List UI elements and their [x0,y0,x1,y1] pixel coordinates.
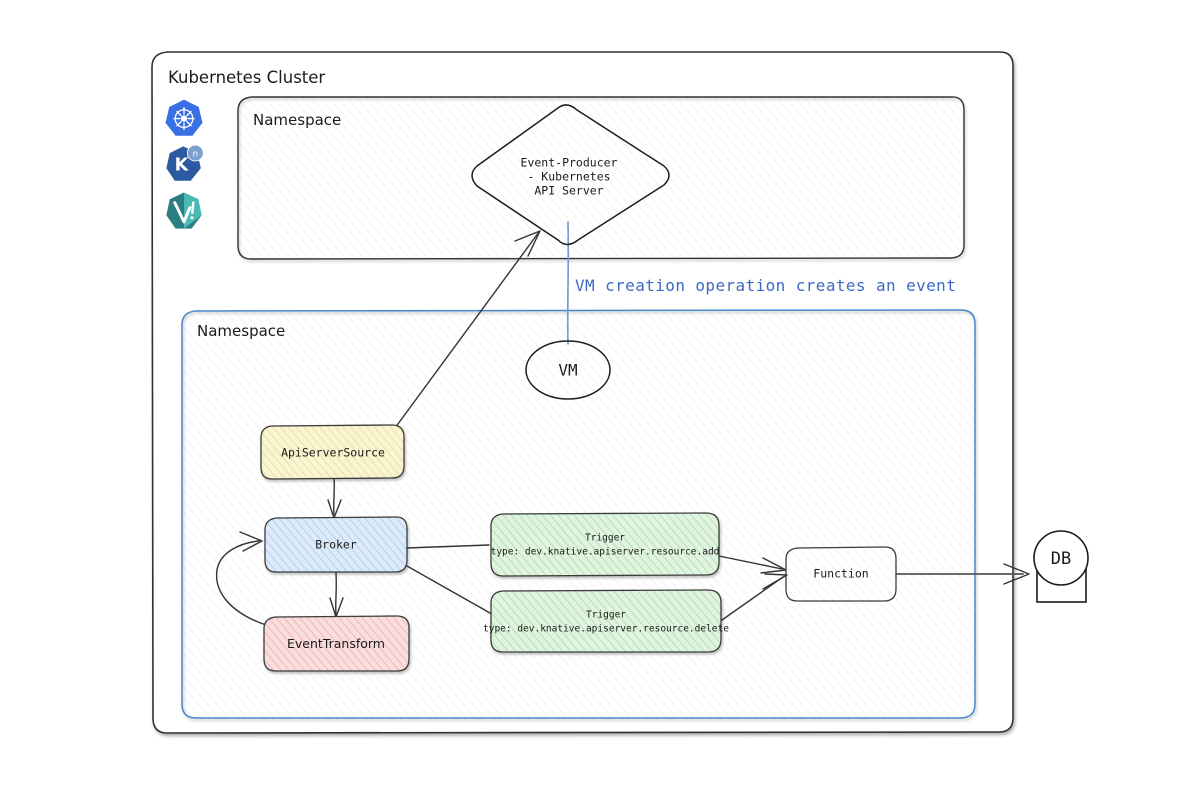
db-node[interactable]: DB [1034,531,1088,602]
function-label: Function [813,567,868,581]
apiserversource-node[interactable]: ApiServerSource [261,425,404,479]
vm-label: VM [558,361,577,380]
namespace-bottom-label: Namespace [197,322,285,340]
vm-creation-event-label: VM creation operation creates an event [575,276,956,295]
kubevirt-icon [163,190,205,232]
eventtransform-label: EventTransform [287,636,385,651]
trigger-add-line-2: type: dev.knative.apiserver.resource.add [491,547,720,558]
diagram-canvas: Event-Producer - Kubernetes API Server V… [0,0,1185,808]
trigger-add-line-1: Trigger [585,533,625,544]
knative-icon: K n [163,143,205,185]
broker-label: Broker [315,538,357,552]
trigger-delete-node[interactable]: Trigger type: dev.knative.apiserver.reso… [483,590,729,652]
apiserversource-label: ApiServerSource [281,446,385,460]
event-producer-line-1: Event-Producer [521,156,618,170]
cluster-title: Kubernetes Cluster [168,68,325,87]
eventtransform-node[interactable]: EventTransform [264,616,409,671]
db-label: DB [1051,549,1071,569]
event-producer-line-3: API Server [534,184,603,198]
namespace-top-label: Namespace [253,111,341,129]
svg-text:n: n [193,149,199,159]
trigger-delete-line-2: type: dev.knative.apiserver.resource.del… [483,624,729,635]
svg-text:K: K [175,156,190,176]
trigger-delete-line-1: Trigger [586,610,626,621]
trigger-add-node[interactable]: Trigger type: dev.knative.apiserver.reso… [491,513,720,576]
kubernetes-icon [163,98,205,140]
broker-node[interactable]: Broker [265,517,407,572]
edge-producer-to-vm [568,222,569,344]
event-producer-line-2: - Kubernetes [527,170,610,184]
